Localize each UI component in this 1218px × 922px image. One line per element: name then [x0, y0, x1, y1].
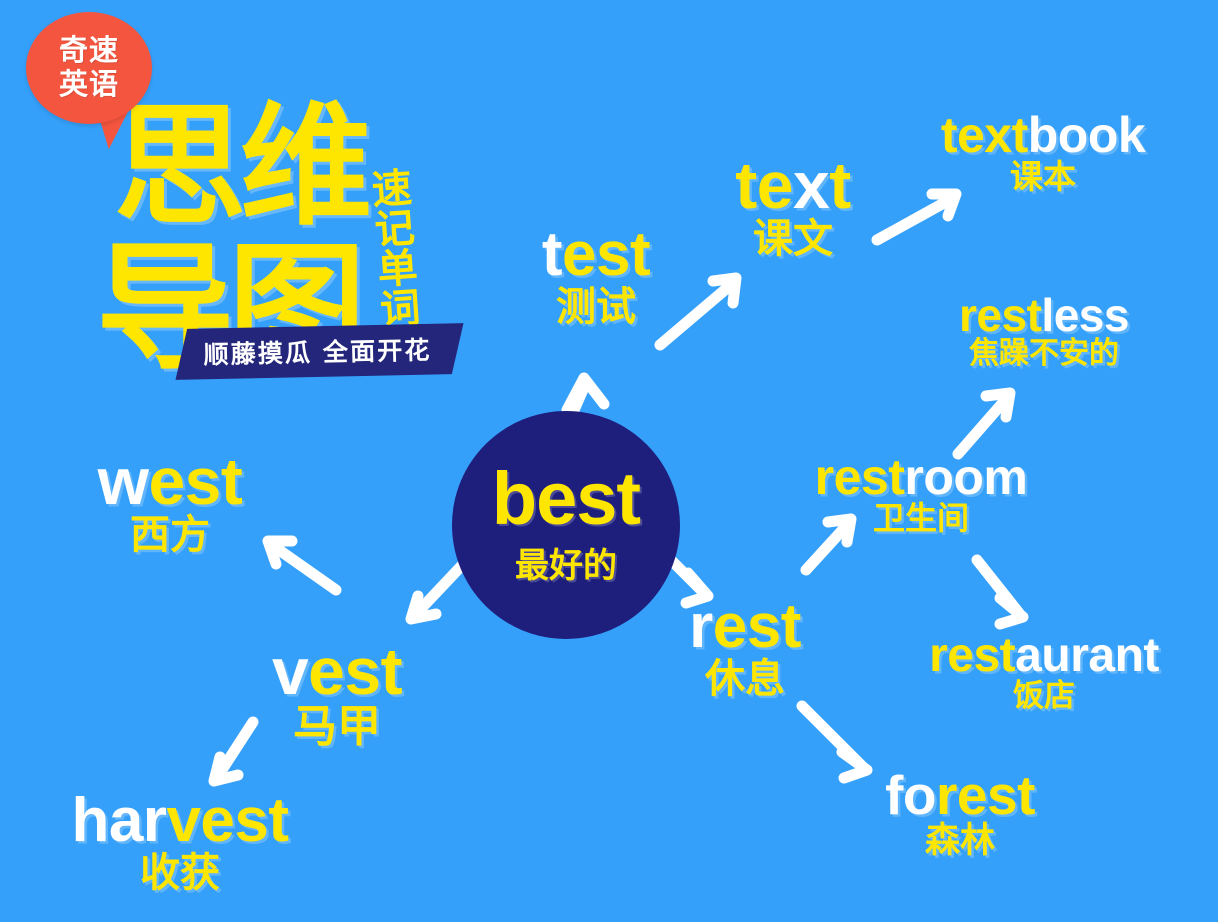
node-rest-seg-0: r — [689, 592, 713, 661]
node-harvest-seg-0: har — [71, 786, 166, 855]
node-text-seg-0: te — [735, 148, 793, 222]
node-vest-seg-1: est — [308, 634, 402, 708]
node-forest-word: forest — [852, 768, 1068, 823]
node-textbook-translation: 课本 — [898, 160, 1188, 195]
node-west-seg-0: w — [98, 444, 149, 518]
node-restaurant-seg-0: rest — [929, 629, 1015, 682]
node-restaurant[interactable]: restaurant 饭店 — [890, 632, 1198, 713]
node-west-translation: 西方 — [60, 514, 280, 556]
center-node-translation: 最好的 — [515, 538, 617, 587]
node-forest-seg-0: fo — [885, 764, 936, 826]
arrow-restroom-to-restless — [958, 393, 1010, 454]
node-restroom-translation: 卫生间 — [782, 502, 1060, 536]
node-forest-translation: 森林 — [852, 823, 1068, 860]
badge-line-1: 奇速 — [59, 34, 119, 68]
arrow-best-to-vest — [411, 560, 467, 619]
node-rest-word: rest — [650, 596, 840, 658]
tagline-banner: 顺藤摸瓜 全面开花 — [175, 323, 463, 380]
node-forest-seg-1: rest — [936, 764, 1035, 826]
arrow-text-to-textbook — [877, 194, 956, 240]
node-west-word: west — [60, 448, 280, 514]
node-west[interactable]: west 西方 — [60, 448, 280, 556]
node-test-seg-1: est — [562, 220, 650, 289]
node-rest-translation: 休息 — [650, 658, 840, 700]
center-node-word: best — [492, 463, 640, 536]
vertical-subtitle: 速记单词 — [354, 166, 417, 329]
node-test-translation: 测试 — [496, 286, 696, 328]
node-test[interactable]: test 测试 — [496, 224, 696, 328]
node-restaurant-seg-1: aurant — [1015, 629, 1159, 682]
badge-line-2: 英语 — [59, 68, 119, 102]
tagline-text: 顺藤摸瓜 全面开花 — [203, 331, 432, 372]
node-text-seg-2: t — [829, 148, 850, 222]
node-restless-translation: 焦躁不安的 — [920, 338, 1168, 370]
node-text-seg-1: x — [793, 148, 829, 222]
node-forest[interactable]: forest 森林 — [852, 768, 1068, 860]
node-restroom-word: restroom — [782, 452, 1060, 502]
node-text[interactable]: text 课文 — [700, 152, 886, 260]
node-test-word: test — [496, 224, 696, 286]
node-test-seg-0: t — [542, 220, 562, 289]
node-textbook-seg-1: book — [1028, 107, 1145, 163]
node-textbook[interactable]: textbook 课本 — [898, 110, 1188, 195]
node-restless[interactable]: restless 焦躁不安的 — [920, 292, 1168, 370]
node-vest[interactable]: vest 马甲 — [242, 638, 432, 750]
node-textbook-seg-0: text — [941, 107, 1028, 163]
node-restroom-seg-1: room — [904, 449, 1027, 505]
node-restaurant-translation: 饭店 — [890, 680, 1198, 713]
node-harvest-seg-1: vest — [166, 786, 288, 855]
node-harvest-word: harvest — [40, 790, 320, 852]
node-restless-seg-0: rest — [959, 289, 1041, 341]
node-vest-seg-0: v — [272, 634, 308, 708]
node-restless-word: restless — [920, 292, 1168, 338]
node-rest-seg-1: est — [713, 592, 801, 661]
node-harvest-translation: 收获 — [40, 852, 320, 894]
node-rest[interactable]: rest 休息 — [650, 596, 840, 700]
node-restaurant-word: restaurant — [890, 632, 1198, 680]
node-west-seg-1: est — [148, 444, 242, 518]
mindmap-canvas: .arrowline { stroke:#ffffff; stroke-widt… — [0, 0, 1218, 922]
node-vest-word: vest — [242, 638, 432, 704]
node-restroom[interactable]: restroom 卫生间 — [782, 452, 1060, 536]
brand-badge: 奇速 英语 — [26, 12, 152, 124]
node-restroom-seg-0: rest — [815, 449, 905, 505]
arrow-restroom-to-restaurant — [977, 560, 1023, 624]
node-text-translation: 课文 — [700, 218, 886, 260]
node-text-word: text — [700, 152, 886, 218]
node-harvest[interactable]: harvest 收获 — [40, 790, 320, 894]
node-restless-seg-1: less — [1041, 289, 1129, 341]
center-node-best[interactable]: best 最好的 — [452, 411, 680, 639]
node-vest-translation: 马甲 — [242, 704, 432, 750]
node-textbook-word: textbook — [898, 110, 1188, 160]
